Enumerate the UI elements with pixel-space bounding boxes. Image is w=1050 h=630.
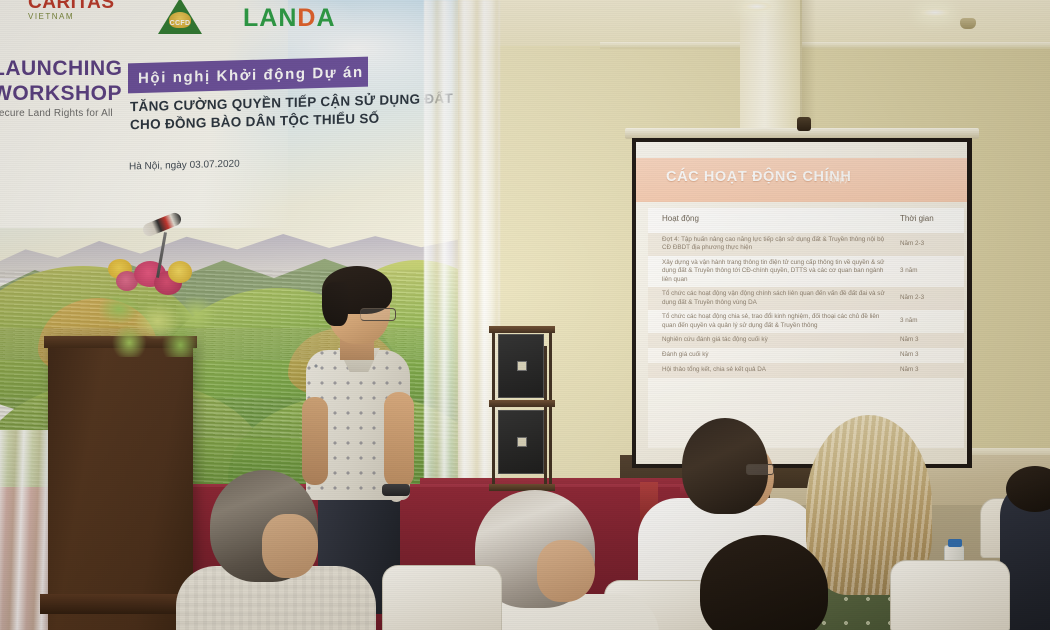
screen-pull-knob [797,117,811,131]
landa-logo-text-b: D [297,4,316,32]
room-ceiling [420,0,1050,46]
amplifier-led-icon [517,361,527,371]
landa-logo-text-c: A [316,4,335,32]
eyeglasses-icon [360,308,396,321]
amplifier-led-icon [517,437,527,447]
conference-photo-scene: CARITAS VIETNAM CCFD LANDA LAUNCHING WOR… [0,0,1050,630]
banner-title-line2: WORKSHOP [0,81,128,106]
presenter-hair [322,282,348,326]
slide-cell-time: Năm 3 [900,366,952,375]
slide-title: CÁC HOẠT ĐỘNG CHÍNH [666,169,851,185]
slide-table-row: Tổ chức các hoạt động vận động chính sác… [648,287,964,310]
wooden-podium [48,340,193,630]
audience-dark-haired-person [700,535,840,630]
banner-left-title-block: LAUNCHING WORKSHOP Secure Land Rights fo… [0,56,128,119]
eyeglasses-icon [746,464,774,475]
amplifier-unit [498,410,544,474]
slide-cell-time: 3 năm [900,317,952,326]
rack-shelf-board [489,400,555,407]
rack-leg [544,346,547,496]
ccfd-triangle-icon: CCFD [158,0,202,34]
slide-cell-time: 3 năm [900,267,952,276]
chair-back [890,560,1010,630]
slide-col-time: Thời gian [900,215,952,224]
presentation-remote [382,484,410,496]
ceiling-light-icon [920,8,950,17]
ccfd-logo: CCFD [158,0,202,36]
amplifier-unit [498,334,544,398]
audience-hair [210,470,318,582]
slide-table-row: Tổ chức các hoạt động chia sẻ, trao đổi … [648,310,964,333]
slide-table: Hoạt động Thời gian Đợt 4: Tập huấn nâng… [648,208,964,448]
slide-cell-activity: Tổ chức các hoạt động chia sẻ, trao đổi … [662,313,900,330]
slide-table-row: Hội thảo tổng kết, chia sẻ kết quả DA Nă… [648,363,964,378]
landa-logo-text-a: LAN [243,4,297,32]
slide-table-row: Đợt 4: Tập huấn nâng cao năng lực tiếp c… [648,233,964,256]
slide-cell-time: Năm 2-3 [900,240,952,249]
slide-col-activity: Hoạt động [662,215,900,224]
audience-hair [700,535,828,630]
ceiling-light-icon [742,2,772,11]
slide-table-row: Nghiên cứu đánh giá tác động cuối kỳ Năm… [648,333,964,348]
ceiling-fixture-icon [960,18,976,29]
bottle-cap [948,539,962,547]
slide-cell-activity: Xây dựng và vận hành trang thông tin điệ… [662,259,900,285]
presenter-right-arm [384,392,414,488]
caritas-logo: CARITAS VIETNAM [28,0,115,21]
banner-highlight-text: Hội nghị Khởi động Dự án [138,63,364,86]
yellow-flower [168,261,192,283]
slide-cell-activity: Nghiên cứu đánh giá tác động cuối kỳ [662,336,900,345]
sheer-curtain [424,0,500,500]
slide-table-row: Xây dựng và vận hành trang thông tin điệ… [648,256,964,288]
landa-logo: LANDA [243,4,336,33]
audience-grey-haired-man [188,470,358,630]
slide-cell-activity: Đánh giá cuối kỳ [662,351,900,360]
slide-cell-time: Năm 3 [900,351,952,360]
ceiling-cornice [600,42,1050,49]
slide-cell-time: Năm 3 [900,336,952,345]
rack-shelf-board [489,326,555,333]
slide-table-row: Đánh giá cuối kỳ Năm 3 [648,348,964,363]
audio-equipment-rack [492,326,552,491]
chair-back [382,565,502,630]
banner-logo-row: CARITAS VIETNAM CCFD LANDA [0,0,458,44]
banner-tagline: Secure Land Rights for All [0,108,128,119]
slide-cell-activity: Tổ chức các hoạt động vận động chính sác… [662,290,900,307]
slide-cell-activity: Đợt 4: Tập huấn nâng cao năng lực tiếp c… [662,236,900,253]
slide-table-header-row: Hoạt động Thời gian [648,208,964,233]
banner-title-line1: LAUNCHING [0,56,128,81]
slide-title-suffix: (tiếp) [828,174,847,184]
slide-cell-time: Năm 2-3 [900,294,952,303]
ccfd-logo-text: CCFD [164,20,196,27]
slide-cell-activity: Hội thảo tổng kết, chia sẻ kết quả DA [662,366,900,375]
